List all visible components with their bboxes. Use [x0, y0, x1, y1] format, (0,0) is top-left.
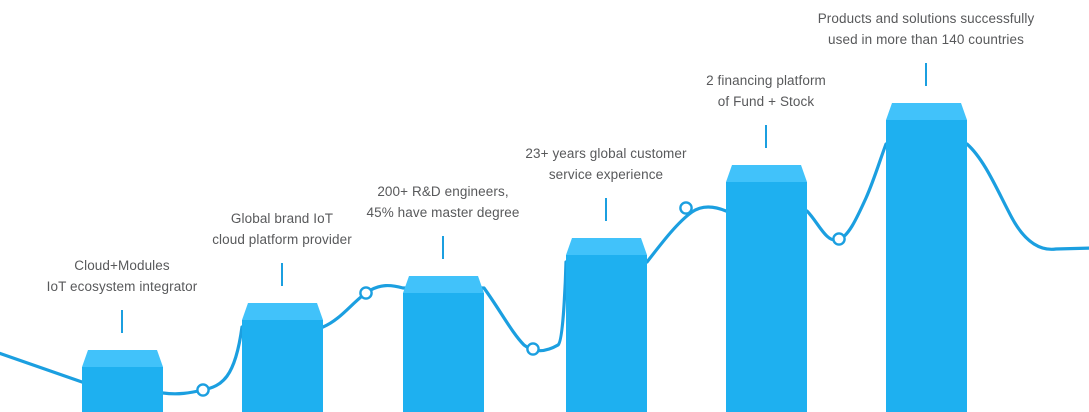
- bar-front-face: [726, 182, 807, 412]
- bar-front-face: [82, 367, 163, 412]
- marker-2: [360, 287, 371, 298]
- bar-label-line: service experience: [525, 164, 686, 185]
- bar-top-face: [82, 350, 163, 367]
- bar-top-face: [242, 303, 323, 320]
- bar-label-line: of Fund + Stock: [706, 91, 826, 112]
- bar-label-line: 23+ years global customer: [525, 143, 686, 164]
- bar-label-line: 2 financing platform: [706, 70, 826, 91]
- marker-4: [680, 202, 691, 213]
- bar-2: [242, 303, 323, 412]
- bar-label-line: 45% have master degree: [366, 202, 519, 223]
- bar-front-face: [403, 293, 484, 412]
- bar-front-face: [886, 120, 967, 412]
- label-tick-1: [121, 310, 123, 333]
- marker-1: [197, 384, 208, 395]
- milestones-infographic: Cloud+ModulesIoT ecosystem integratorGlo…: [0, 0, 1089, 412]
- bar-label-6: Products and solutions successfullyused …: [818, 8, 1035, 50]
- bar-4: [566, 238, 647, 412]
- bar-label-4: 23+ years global customerservice experie…: [525, 143, 686, 185]
- bar-top-face: [403, 276, 484, 293]
- bar-label-2: Global brand IoTcloud platform provider: [212, 208, 352, 250]
- bar-6: [886, 103, 967, 412]
- bar-label-line: Products and solutions successfully: [818, 8, 1035, 29]
- bar-top-face: [566, 238, 647, 255]
- label-tick-3: [442, 236, 444, 259]
- label-tick-2: [281, 263, 283, 286]
- bar-front-face: [242, 320, 323, 412]
- bar-5: [726, 165, 807, 412]
- bar-label-line: IoT ecosystem integrator: [47, 276, 198, 297]
- bar-3: [403, 276, 484, 412]
- marker-5: [833, 233, 844, 244]
- label-tick-6: [925, 63, 927, 86]
- bar-label-line: 200+ R&D engineers,: [366, 181, 519, 202]
- bar-label-5: 2 financing platformof Fund + Stock: [706, 70, 826, 112]
- bar-top-face: [886, 103, 967, 120]
- label-tick-4: [605, 198, 607, 221]
- label-tick-5: [765, 125, 767, 148]
- marker-3: [527, 343, 538, 354]
- bar-top-face: [726, 165, 807, 182]
- bar-label-line: Global brand IoT: [212, 208, 352, 229]
- bar-label-line: Cloud+Modules: [47, 255, 198, 276]
- milestones-chart-svg: [0, 0, 1089, 412]
- bar-label-3: 200+ R&D engineers,45% have master degre…: [366, 181, 519, 223]
- bar-label-line: used in more than 140 countries: [818, 29, 1035, 50]
- bar-label-line: cloud platform provider: [212, 229, 352, 250]
- bar-label-1: Cloud+ModulesIoT ecosystem integrator: [47, 255, 198, 297]
- bar-1: [82, 350, 163, 412]
- bar-front-face: [566, 255, 647, 412]
